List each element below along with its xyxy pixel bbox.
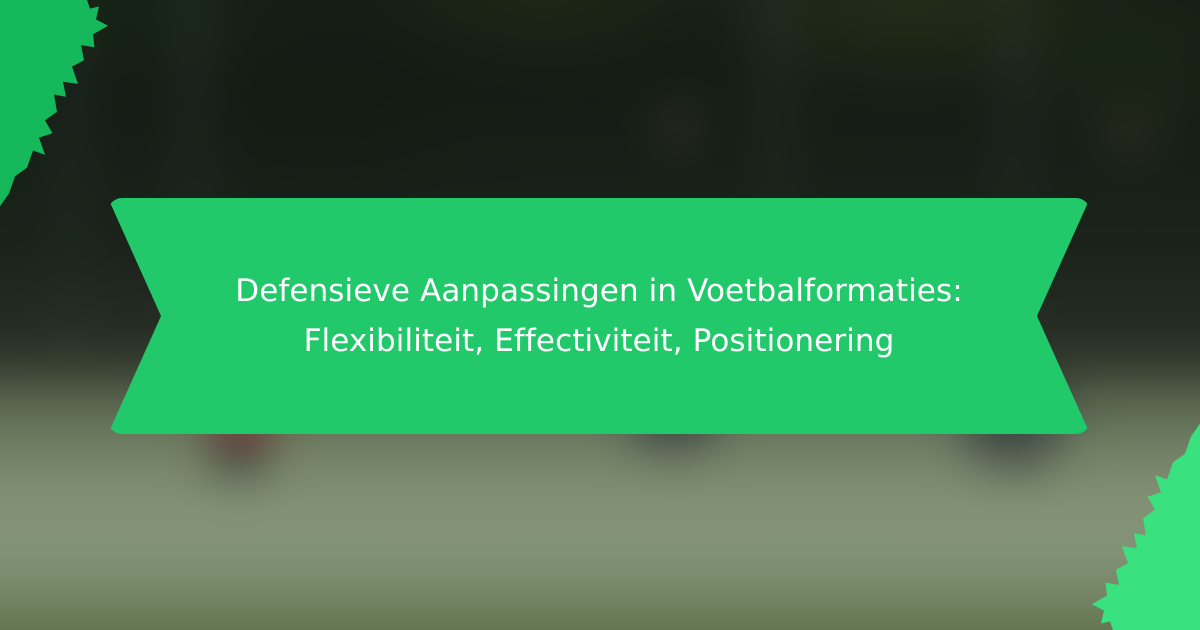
title-ribbon-banner: Defensieve Aanpassingen in Voetbalformat… <box>108 198 1090 434</box>
page-title-line-2: Flexibiliteit, Effectiviteit, Positioner… <box>189 316 1009 366</box>
social-card: Defensieve Aanpassingen in Voetbalformat… <box>0 0 1200 630</box>
page-title-line-1: Defensieve Aanpassingen in Voetbalformat… <box>189 266 1009 316</box>
page-title: Defensieve Aanpassingen in Voetbalformat… <box>189 266 1009 366</box>
